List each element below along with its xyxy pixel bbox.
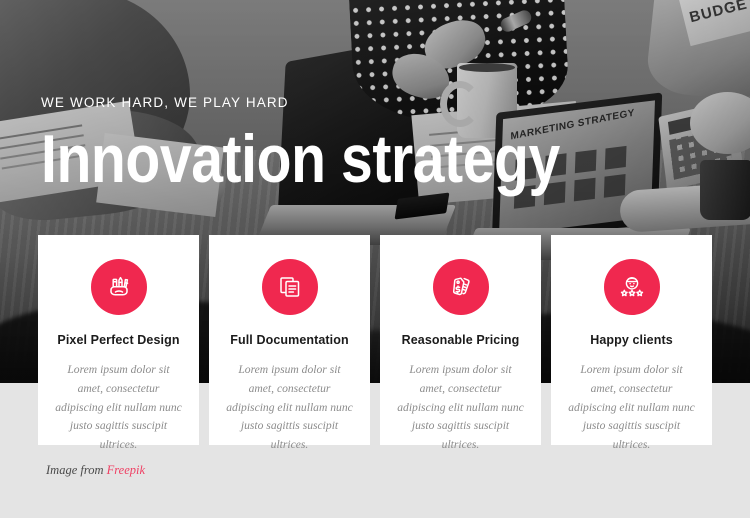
feature-card-title: Full Documentation bbox=[230, 333, 348, 348]
freepik-link[interactable]: Freepik bbox=[107, 463, 145, 477]
hero-text-block: WE WORK HARD, WE PLAY HARD Innovation st… bbox=[41, 96, 659, 192]
feature-card-title: Pixel Perfect Design bbox=[57, 333, 179, 348]
documents-stack-icon bbox=[262, 259, 318, 315]
feature-card-title: Happy clients bbox=[590, 333, 673, 348]
feature-card-body: Lorem ipsum dolor sit amet, consectetur … bbox=[225, 361, 354, 455]
feature-card-body: Lorem ipsum dolor sit amet, consectetur … bbox=[54, 361, 183, 455]
landing-page: MARKETING STRATEGY bbox=[0, 0, 750, 518]
feature-card-list: Pixel Perfect Design Lorem ipsum dolor s… bbox=[38, 235, 712, 445]
feature-card-body: Lorem ipsum dolor sit amet, consectetur … bbox=[396, 361, 525, 455]
image-credit-prefix: Image from bbox=[46, 463, 107, 477]
feature-card[interactable]: Full Documentation Lorem ipsum dolor sit… bbox=[209, 235, 370, 445]
feature-card-title: Reasonable Pricing bbox=[402, 333, 520, 348]
hero-eyebrow: WE WORK HARD, WE PLAY HARD bbox=[41, 96, 659, 110]
feature-card[interactable]: Happy clients Lorem ipsum dolor sit amet… bbox=[551, 235, 712, 445]
customer-rating-stars-icon bbox=[604, 259, 660, 315]
feature-card[interactable]: Reasonable Pricing Lorem ipsum dolor sit… bbox=[380, 235, 541, 445]
price-tags-icon bbox=[433, 259, 489, 315]
design-tools-cup-icon bbox=[91, 259, 147, 315]
feature-card[interactable]: Pixel Perfect Design Lorem ipsum dolor s… bbox=[38, 235, 199, 445]
feature-card-body: Lorem ipsum dolor sit amet, consectetur … bbox=[567, 361, 696, 455]
image-credit: Image from Freepik bbox=[46, 463, 145, 478]
page-title: Innovation strategy bbox=[41, 126, 560, 193]
